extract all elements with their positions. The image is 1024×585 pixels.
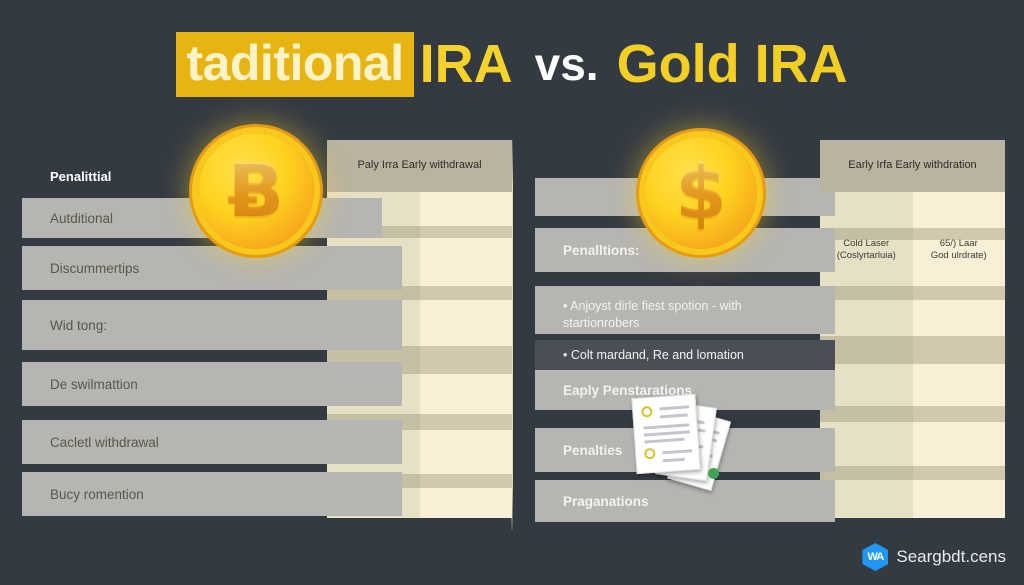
list-item[interactable]: Bucy romention [22,472,402,516]
seal-icon [641,406,653,418]
page-title: taditional IRA vs. Gold IRA [0,28,1024,100]
title-ira-left: IRA [420,33,513,95]
right-table-column-b: 65/) LaarGod ulrdrate) [913,140,1006,518]
bitcoin-coin-icon: Ƀ [198,133,314,249]
list-item-bullet[interactable]: • Colt mardand, Re and lomation [535,340,835,370]
list-item[interactable]: De swilmattion [22,362,402,406]
title-gold-ira: Gold IRA [617,33,848,95]
left-table-column-b [420,140,513,518]
document-page [631,394,700,474]
left-table-header: Paly Irra Early withdrawal [327,140,512,192]
seal-icon [644,448,656,460]
bitcoin-glyph: Ƀ [228,154,284,228]
dollar-coin-icon: $ [645,137,757,249]
list-item-bullet[interactable]: • Anjoyst dirle fiest spotion - withstar… [535,286,835,334]
infographic-canvas: taditional IRA vs. Gold IRA Paly Irra Ea… [0,0,1024,585]
right-comparison-panel: Cold Laser(Coslyrtarluia) 65/) LaarGod u… [535,140,1005,518]
list-item[interactable]: Cacletl withdrawal [22,420,402,464]
right-table-cell-right: 65/) LaarGod ulrdrate) [913,238,1006,263]
watermark-text: Seargbdt.cens [896,547,1006,567]
hexagon-badge-icon: WA [862,543,888,571]
dollar-glyph: $ [675,156,727,230]
list-item[interactable]: Wid tong: [22,300,402,350]
check-badge-icon [708,468,719,479]
document-stack-icon [630,392,746,488]
watermark-logo[interactable]: WA Seargbdt.cens [862,543,1006,571]
title-highlighted-word: taditional [176,32,413,97]
list-item[interactable]: Discummertips [22,246,402,290]
title-vs: vs. [535,37,599,91]
right-table-header: Early Irfa Early withdration [820,140,1005,192]
right-table: Cold Laser(Coslyrtarluia) 65/) LaarGod u… [820,140,1005,518]
